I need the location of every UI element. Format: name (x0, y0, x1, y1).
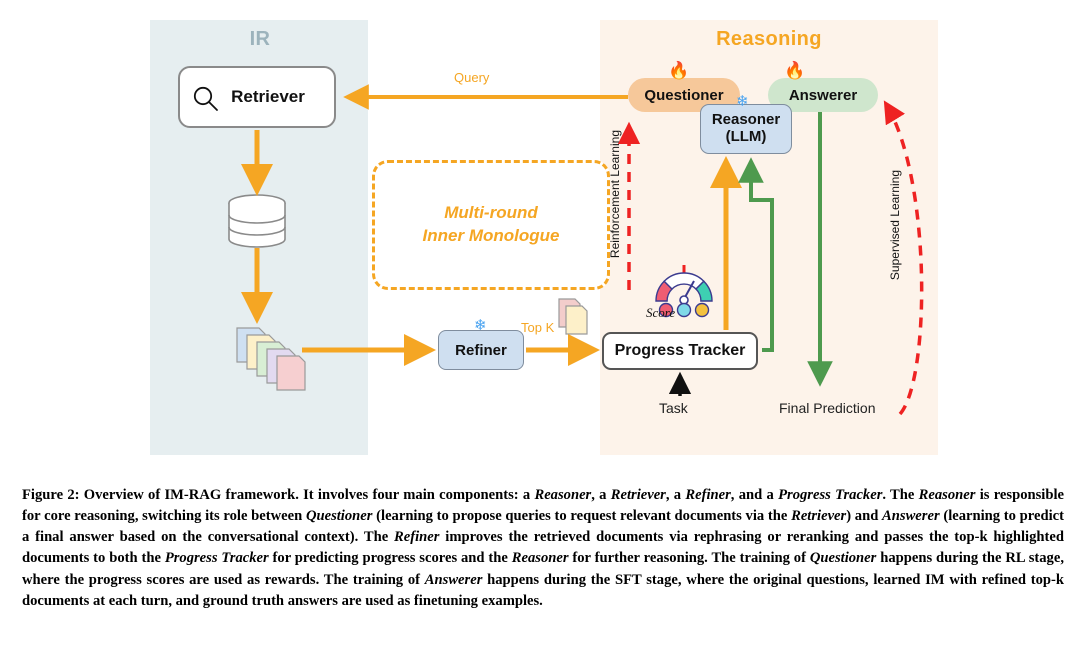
node-answerer-label: Answerer (789, 87, 857, 104)
magnifier-icon (192, 85, 220, 113)
panel-label-reasoning: Reasoning (600, 28, 938, 51)
caption-seg-7: ) and (846, 508, 882, 524)
caption-seg-3: , and a (731, 487, 778, 503)
figure-caption: Figure 2: Overview of IM-RAG framework. … (22, 485, 1064, 612)
node-retriever[interactable]: Retriever (178, 66, 336, 128)
caption-seg-11: for further reasoning. The training of (569, 550, 810, 566)
node-retriever-label: Retriever (231, 87, 305, 107)
node-questioner-label: Questioner (644, 87, 723, 104)
figure-2-diagram: IR Reasoning Multi-round Inner Monologue… (0, 0, 1080, 466)
caption-term-1: Reasoner (534, 487, 591, 503)
caption-seg-6: (learning to propose queries to request … (372, 508, 791, 524)
fire-icon-answerer: 🔥 (784, 62, 805, 79)
database-icon (229, 195, 285, 247)
caption-term-8: Answerer (882, 508, 940, 524)
caption-term-10: Progress Tracker (165, 550, 269, 566)
caption-term-6: Questioner (306, 508, 373, 524)
caption-term-9: Refiner (394, 529, 439, 545)
node-progress-tracker[interactable]: Progress Tracker (602, 332, 758, 370)
caption-term-3: Refiner (685, 487, 730, 503)
node-refiner-label: Refiner (455, 342, 507, 359)
inner-monologue-line2: Inner Monologue (423, 225, 560, 248)
label-score: Score (646, 305, 675, 321)
edge-label-query: Query (454, 70, 489, 85)
node-reasoner[interactable]: Reasoner (LLM) (700, 104, 792, 154)
node-reasoner-label-line1: Reasoner (712, 112, 780, 129)
caption-term-2: Retriever (611, 487, 666, 503)
caption-seg-10: for predicting progress scores and the (269, 550, 512, 566)
caption-term-13: Answerer (425, 572, 483, 588)
panel-label-ir: IR (150, 28, 370, 51)
caption-term-4: Progress Tracker (778, 487, 882, 503)
inner-monologue-line1: Multi-round (444, 202, 537, 225)
caption-seg-2: , a (666, 487, 686, 503)
caption-seg-4: . The (882, 487, 918, 503)
edge-label-supervised-learning: Supervised Learning (888, 170, 902, 280)
edge-label-final-prediction: Final Prediction (779, 400, 876, 416)
node-refiner[interactable]: Refiner (438, 330, 524, 370)
caption-term-12: Questioner (810, 550, 877, 566)
caption-term-7: Retriever (791, 508, 846, 524)
node-reasoner-label-line2: (LLM) (726, 129, 767, 146)
caption-seg-1: , a (591, 487, 611, 503)
snowflake-icon-reasoner: ❄ (736, 94, 749, 109)
caption-term-11: Reasoner (512, 550, 569, 566)
caption-prefix: Figure 2: Overview of IM-RAG framework. … (22, 487, 534, 503)
edge-label-reinforcement-learning: Reinforcement Learning (608, 130, 622, 258)
edge-label-task: Task (659, 400, 688, 416)
topk-documents-icon (559, 299, 587, 334)
edge-label-top-k: Top K (521, 320, 554, 335)
fire-icon-questioner: 🔥 (668, 62, 689, 79)
snowflake-icon-refiner: ❄ (474, 318, 487, 333)
inner-monologue-box: Multi-round Inner Monologue (372, 160, 610, 290)
node-progress-tracker-label: Progress Tracker (615, 342, 746, 360)
caption-term-5: Reasoner (919, 487, 976, 503)
